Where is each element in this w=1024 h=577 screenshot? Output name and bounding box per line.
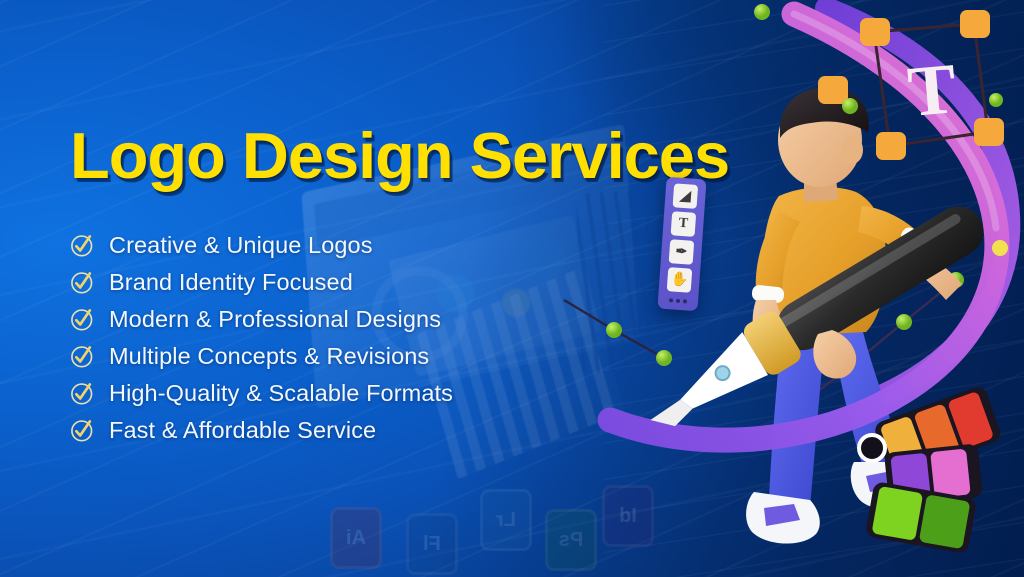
feature-list: Creative & Unique Logos Brand Identity F… [70, 230, 453, 446]
anchor-point-dot [842, 98, 858, 114]
color-swatch [919, 494, 971, 549]
feature-label: High-Quality & Scalable Formats [109, 380, 453, 407]
selection-handle [860, 18, 890, 46]
list-item: Modern & Professional Designs [70, 304, 453, 335]
text-badge-T: T [905, 48, 960, 132]
text-tool-icon[interactable]: T [671, 211, 697, 237]
swatch-ring-icon [859, 435, 885, 461]
feature-label: Multiple Concepts & Revisions [109, 343, 429, 370]
magic-wand-tool-icon[interactable]: ◢ [673, 183, 699, 209]
check-circle-icon [70, 270, 95, 295]
feature-label: Creative & Unique Logos [109, 232, 373, 259]
list-item: Multiple Concepts & Revisions [70, 341, 453, 372]
anchor-point-dot [656, 350, 672, 366]
app-icon-fl: Fl [406, 513, 458, 575]
anchor-point-dot [606, 322, 622, 338]
pen-nib-tool-icon[interactable]: ✒ [669, 239, 695, 265]
feature-label: Modern & Professional Designs [109, 306, 441, 333]
check-circle-icon [70, 418, 95, 443]
list-item: High-Quality & Scalable Formats [70, 378, 453, 409]
selection-handle [974, 118, 1004, 146]
check-circle-icon [70, 344, 95, 369]
list-item: Brand Identity Focused [70, 267, 453, 298]
app-icon-ai: Ai [330, 507, 382, 569]
anchor-point-dot [992, 240, 1008, 256]
character-ear [841, 136, 863, 164]
selection-handle [960, 10, 990, 38]
check-circle-icon [70, 233, 95, 258]
anchor-point-dot [896, 314, 912, 330]
check-circle-icon [70, 381, 95, 406]
anchor-point-dot [989, 93, 1003, 107]
anchor-point-dot [754, 4, 770, 20]
check-circle-icon [70, 307, 95, 332]
selection-handle [876, 132, 906, 160]
hand-tool-icon[interactable]: ✋ [667, 267, 693, 293]
toolbar-more-icon[interactable] [669, 298, 687, 303]
selection-handle [818, 76, 848, 104]
list-item: Creative & Unique Logos [70, 230, 453, 261]
app-icon-lr: Lr [480, 489, 532, 551]
logo-design-services-banner: Ai Fl Lr Ps Id Logo Design Services Crea… [0, 0, 1024, 577]
feature-label: Fast & Affordable Service [109, 417, 376, 444]
color-swatch [872, 486, 924, 541]
app-icon-ps: Ps [545, 509, 597, 571]
feature-label: Brand Identity Focused [109, 269, 353, 296]
color-swatch [930, 449, 971, 499]
list-item: Fast & Affordable Service [70, 415, 453, 446]
